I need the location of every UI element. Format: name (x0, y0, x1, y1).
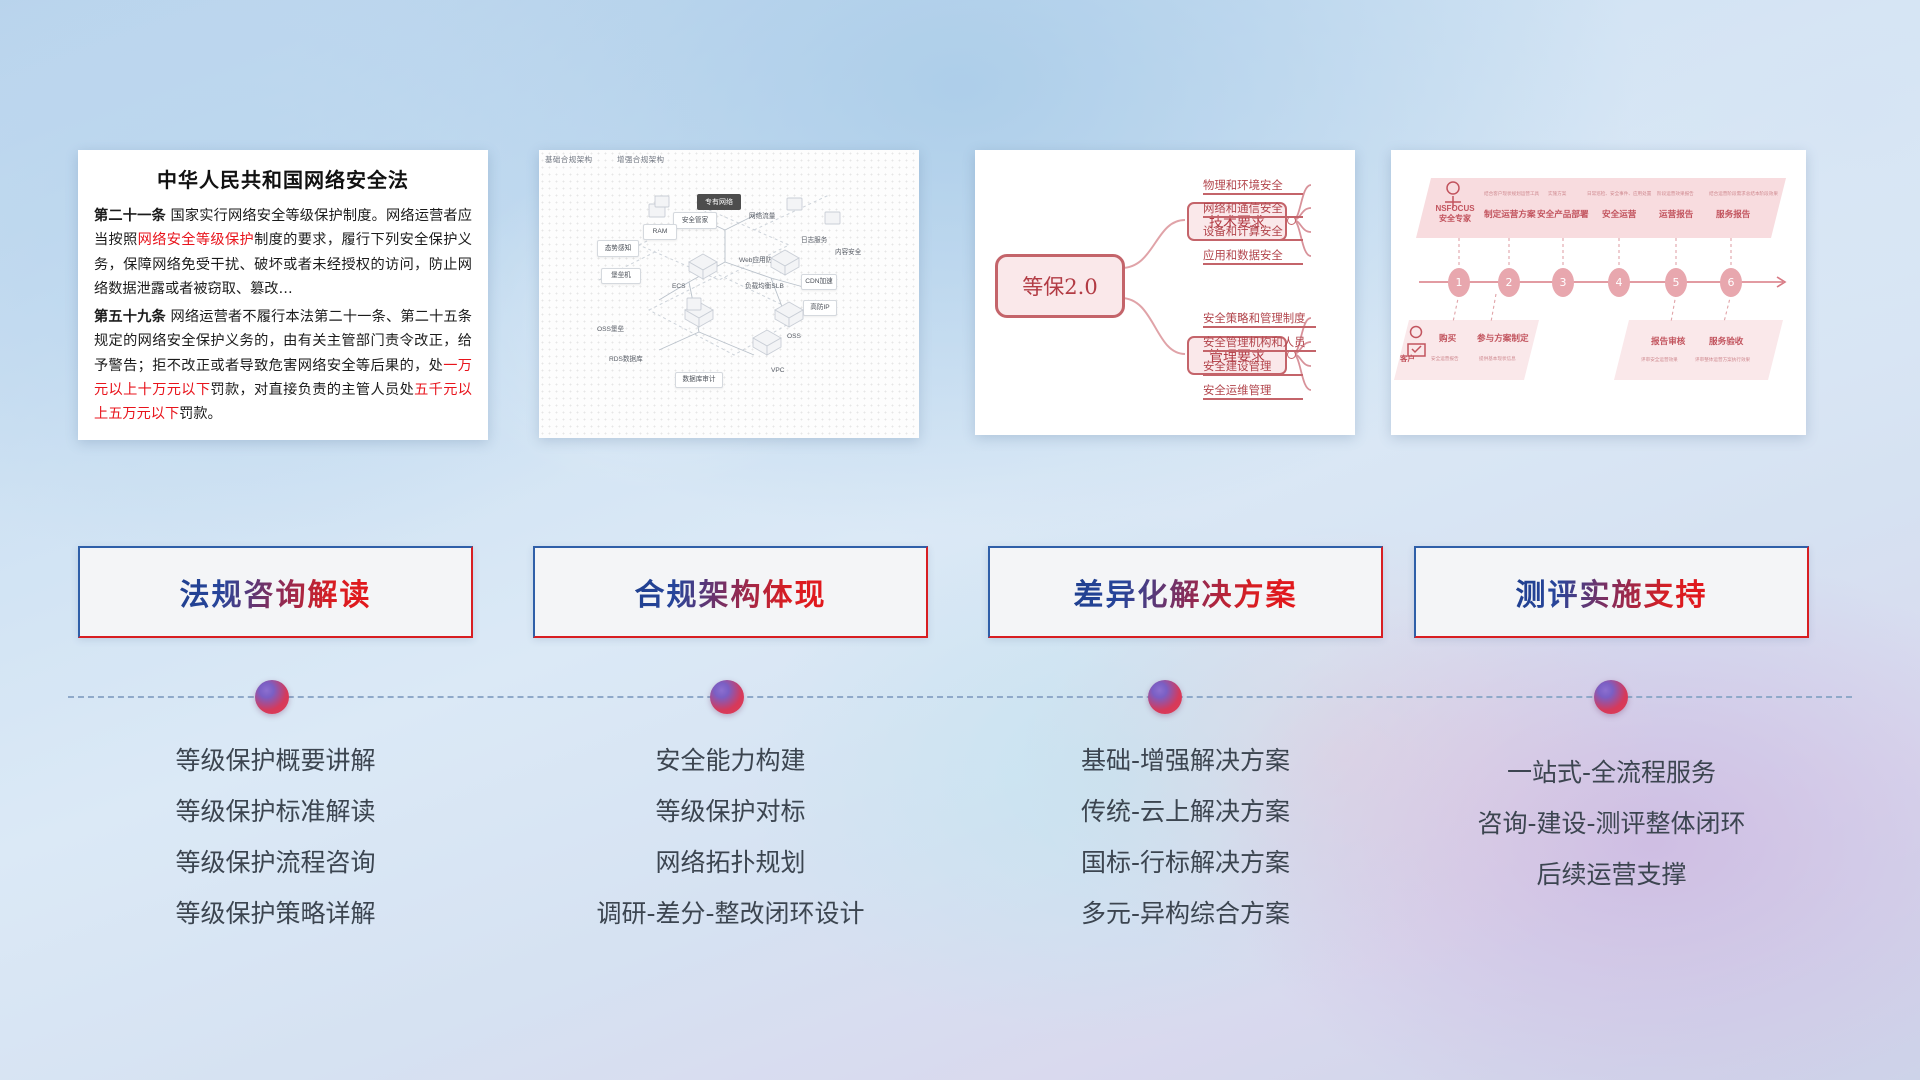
list-item: 等级保护标准解读 (78, 786, 473, 837)
nsfocus-customer-label: 客户 (1400, 353, 1415, 364)
section-title-label-3: 差异化解决方案 (1074, 570, 1298, 614)
mindmap-leafline-m3 (1203, 398, 1303, 400)
nsfocus-top-sub-3: 阶段运营效果报告 (1657, 191, 1694, 197)
nsfocus-bot-main-3: 服务验收 (1709, 335, 1743, 347)
law-p1-red1: 网络安全等级保护 (138, 232, 254, 248)
nsfocus-step-number-4: 4 (1608, 268, 1630, 297)
list-item: 等级保护概要讲解 (78, 735, 473, 786)
section-title-label-4: 测评实施支持 (1516, 570, 1708, 614)
mindmap-leafline-t2 (1203, 239, 1303, 241)
top-card-row: 中华人民共和国网络安全法 第二十一条 国家实行网络安全等级保护制度。网络运营者应… (0, 150, 1920, 445)
detail-column-2: 安全能力构建 等级保护对标 网络拓扑规划 调研-差分-整改闭环设计 (533, 735, 928, 939)
mindmap-leaf-t1: 网络和通信安全 (1203, 200, 1283, 216)
architecture-cube-icons (539, 150, 919, 438)
list-item: 传统-云上解决方案 (988, 786, 1383, 837)
nsfocus-brand-sub: 安全专家 (1439, 214, 1471, 223)
mindmap-leafline-m0 (1203, 326, 1316, 328)
mindmap-leaf-m0: 安全策略和管理制度 (1203, 310, 1306, 326)
mindmap-leaf-m1: 安全管理机构和人员 (1203, 334, 1306, 350)
mindmap-leafline-t0 (1203, 193, 1303, 195)
law-text-block: 中华人民共和国网络安全法 第二十一条 国家实行网络安全等级保护制度。网络运营者应… (78, 150, 488, 440)
list-item: 基础-增强解决方案 (988, 735, 1383, 786)
mindmap-leaf-t0: 物理和环境安全 (1203, 177, 1283, 193)
nsfocus-step-number-3: 3 (1552, 268, 1574, 297)
list-item: 一站式-全流程服务 (1414, 747, 1809, 798)
detail-column-4: 一站式-全流程服务 咨询-建设-测评整体闭环 后续运营支撑 (1414, 747, 1809, 900)
list-item: 后续运营支撑 (1414, 849, 1809, 900)
nsfocus-brand: NSFOCUS 安全专家 (1429, 204, 1481, 224)
mindmap-root-node: 等保2.0 (995, 254, 1125, 318)
section-title-bar-2[interactable]: 合规架构体现 (533, 546, 928, 638)
mindmap-leafline-t1 (1203, 216, 1303, 218)
section-title-label-1: 法规咨询解读 (180, 570, 372, 614)
list-item: 等级保护对标 (533, 786, 928, 837)
list-item: 等级保护策略详解 (78, 888, 473, 939)
nsfocus-bot-sub-2: 评审安全运营效果 (1641, 357, 1678, 363)
section-title-bar-1[interactable]: 法规咨询解读 (78, 546, 473, 638)
mindmap-leaf-t3: 应用和数据安全 (1203, 247, 1283, 263)
nsfocus-brand-name: NSFOCUS (1435, 204, 1474, 213)
nsfocus-top-main-0: 制定运营方案 (1484, 208, 1536, 220)
timeline-dot-1[interactable] (255, 680, 289, 714)
nsfocus-bot-main-0: 购买 (1439, 332, 1456, 344)
nsfocus-diagram: NSFOCUS 安全专家 客户 结合客户现状规划运营工具 制定运营方案 实施方案… (1391, 150, 1806, 435)
nsfocus-step-number-2: 2 (1498, 268, 1520, 297)
law-article-59-label: 第五十九条 (94, 309, 166, 325)
nsfocus-top-sub-4: 结合运营阶段需求总结本阶段效果 (1709, 191, 1778, 197)
timeline-dashed-line (68, 696, 1852, 698)
law-paragraph-59: 第五十九条 网络运营者不履行本法第二十一条、第二十五条规定的网络安全保护义务的，… (94, 305, 472, 427)
list-item: 网络拓扑规划 (533, 837, 928, 888)
nsfocus-step-number-1: 1 (1448, 268, 1470, 297)
architecture-diagram: 基础合规架构 增强合规架构 (539, 150, 919, 438)
law-article-21-label: 第二十一条 (94, 208, 166, 224)
card-mindmap-dengbao: 等保2.0 技术要求 管理要求 物理和环境安全 网络和通信安全 设备和计算安全 … (975, 150, 1355, 435)
nsfocus-step-number-6: 6 (1720, 268, 1742, 297)
mindmap-leaf-m2: 安全建设管理 (1203, 358, 1271, 374)
list-item: 安全能力构建 (533, 735, 928, 786)
nsfocus-top-sub-0: 结合客户现状规划运营工具 (1484, 191, 1539, 197)
nsfocus-bot-main-2: 报告审核 (1651, 335, 1685, 347)
card-nsfocus-timeline: NSFOCUS 安全专家 客户 结合客户现状规划运营工具 制定运营方案 实施方案… (1391, 150, 1806, 435)
section-title-label-2: 合规架构体现 (635, 570, 827, 614)
mindmap-leafline-t3 (1203, 263, 1303, 265)
nsfocus-top-main-3: 运营报告 (1659, 208, 1693, 220)
mindmap-leafline-m1 (1203, 350, 1316, 352)
law-p2-t3: 罚款。 (179, 406, 222, 422)
list-item: 调研-差分-整改闭环设计 (533, 888, 928, 939)
nsfocus-top-sub-1: 实施方案 (1548, 191, 1566, 197)
section-title-bar-3[interactable]: 差异化解决方案 (988, 546, 1383, 638)
mindmap-diagram: 等保2.0 技术要求 管理要求 物理和环境安全 网络和通信安全 设备和计算安全 … (975, 150, 1355, 435)
list-item: 等级保护流程咨询 (78, 837, 473, 888)
timeline-dot-2[interactable] (710, 680, 744, 714)
card-cybersecurity-law: 中华人民共和国网络安全法 第二十一条 国家实行网络安全等级保护制度。网络运营者应… (78, 150, 488, 440)
timeline-dot-4[interactable] (1594, 680, 1628, 714)
slide-canvas: 中华人民共和国网络安全法 第二十一条 国家实行网络安全等级保护制度。网络运营者应… (0, 0, 1920, 1080)
nsfocus-top-main-2: 安全运营 (1602, 208, 1636, 220)
detail-column-1: 等级保护概要讲解 等级保护标准解读 等级保护流程咨询 等级保护策略详解 (78, 735, 473, 939)
mindmap-leaf-t2: 设备和计算安全 (1203, 223, 1283, 239)
mindmap-leaf-m3: 安全运维管理 (1203, 382, 1271, 398)
section-title-bar-4[interactable]: 测评实施支持 (1414, 546, 1809, 638)
nsfocus-bot-sub-3: 评审整体运营方案执行效果 (1695, 357, 1750, 363)
nsfocus-bot-sub-1: 提供基本现状信息 (1479, 356, 1516, 362)
law-paragraph-21: 第二十一条 国家实行网络安全等级保护制度。网络运营者应当按照网络安全等级保护制度… (94, 204, 472, 302)
section-title-row: 法规咨询解读 合规架构体现 差异化解决方案 测评实施支持 (0, 546, 1920, 638)
nsfocus-bot-sub-0: 安全运营报告 (1431, 356, 1459, 362)
nsfocus-top-main-4: 服务报告 (1716, 208, 1750, 220)
nsfocus-step-number-5: 5 (1665, 268, 1687, 297)
nsfocus-top-main-1: 安全产品部署 (1537, 208, 1589, 220)
nsfocus-bot-main-1: 参与方案制定 (1477, 332, 1529, 344)
law-title: 中华人民共和国网络安全法 (94, 164, 472, 193)
list-item: 国标-行标解决方案 (988, 837, 1383, 888)
detail-columns: 等级保护概要讲解 等级保护标准解读 等级保护流程咨询 等级保护策略详解 安全能力… (0, 735, 1920, 955)
law-p2-t2: 罚款，对直接负责的主管人员处 (210, 382, 414, 398)
list-item: 多元-异构综合方案 (988, 888, 1383, 939)
timeline-dot-3[interactable] (1148, 680, 1182, 714)
mindmap-leafline-m2 (1203, 374, 1303, 376)
nsfocus-top-sub-2: 日常巡检、安全事件、应用处置 (1587, 191, 1651, 197)
list-item: 咨询-建设-测评整体闭环 (1414, 798, 1809, 849)
detail-column-3: 基础-增强解决方案 传统-云上解决方案 国标-行标解决方案 多元-异构综合方案 (988, 735, 1383, 939)
card-cloud-architecture: 基础合规架构 增强合规架构 (539, 150, 919, 438)
